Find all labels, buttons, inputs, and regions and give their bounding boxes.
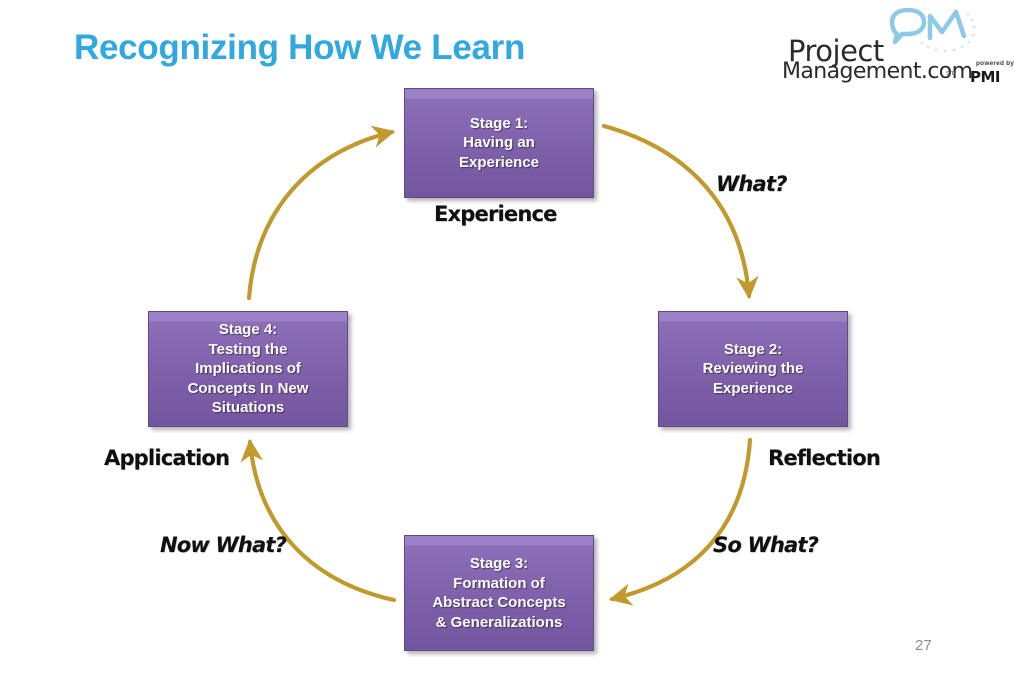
stage-box-3[interactable]: Stage 3: Formation of Abstract Concepts …	[404, 535, 594, 651]
question-label-what: What?	[716, 172, 787, 196]
stage-box-4[interactable]: Stage 4: Testing the Implications of Con…	[148, 311, 348, 427]
question-label-now-what: Now What?	[160, 533, 286, 557]
stage-box-2[interactable]: Stage 2: Reviewing the Experience	[658, 311, 848, 427]
learning-cycle-diagram: Stage 1: Having an Experience Stage 2: R…	[0, 0, 1024, 674]
arrow-stage1-to-stage2	[604, 126, 749, 296]
phase-label-experience: Experience	[434, 202, 557, 226]
arrow-stage4-to-stage1	[249, 132, 392, 298]
stage-box-1[interactable]: Stage 1: Having an Experience	[404, 88, 594, 198]
arrow-stage3-to-stage4	[250, 442, 394, 600]
question-label-so-what: So What?	[713, 533, 818, 557]
arrow-stage2-to-stage3	[612, 440, 750, 599]
phase-label-application: Application	[104, 446, 229, 470]
page-number: 27	[915, 637, 932, 654]
phase-label-reflection: Reflection	[768, 446, 880, 470]
